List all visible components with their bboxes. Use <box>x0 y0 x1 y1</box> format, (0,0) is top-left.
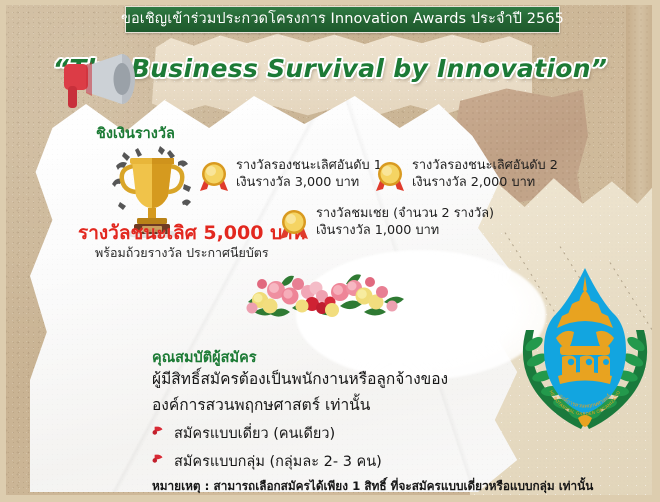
medal-icon <box>374 159 406 193</box>
prize-item-title: รางวัลชมเชย (จำนวน 2 รางวัล) <box>316 205 494 222</box>
prize-item-amount: เงินรางวัล 2,000 บาท <box>412 174 558 192</box>
qualifications-line-2: องค์การสวนพฤกษศาสตร์ เท่านั้น <box>152 392 370 417</box>
botanical-garden-organization-logo: องค์การสวนพฤกษศาสตร์ THE BOTANICAL GARDE… <box>522 258 648 430</box>
megaphone-icon <box>52 44 148 114</box>
list-item: สมัครแบบกลุ่ม (กลุ่มละ 2- 3 คน) <box>152 450 382 473</box>
prize-item-title: รางวัลรองชนะเลิศอันดับ 2 <box>412 157 558 174</box>
list-item-label: สมัครแบบเดี่ยว (คนเดียว) <box>174 422 335 445</box>
banner-title: ขอเชิญเข้าร่วมประกวดโครงการ Innovation A… <box>121 12 564 27</box>
prize-item-text: รางวัลรองชนะเลิศอันดับ 2 เงินรางวัล 2,00… <box>412 157 558 192</box>
bullet-flag-icon <box>152 452 166 471</box>
first-prize-extras: พร้อมถ้วยรางวัล ประกาศนียบัตร <box>95 243 269 263</box>
medal-icon <box>278 207 310 241</box>
list-item: สมัครแบบเดี่ยว (คนเดียว) <box>152 422 335 445</box>
frame-border-bottom <box>0 495 660 502</box>
floral-garland-decoration <box>240 262 410 326</box>
bullet-flag-icon <box>152 424 166 443</box>
qualifications-line-1: ผู้มีสิทธิ์สมัครต้องเป็นพนักงานหรือลูกจ้… <box>152 366 448 391</box>
prize-item-title: รางวัลรองชนะเลิศอันดับ 1 <box>236 157 382 174</box>
prize-item-text: รางวัลชมเชย (จำนวน 2 รางวัล) เงินรางวัล … <box>316 205 494 240</box>
prize-item-amount: เงินรางวัล 3,000 บาท <box>236 174 382 192</box>
poster-root: ขอเชิญเข้าร่วมประกวดโครงการ Innovation A… <box>0 0 660 502</box>
list-item-label: สมัครแบบกลุ่ม (กลุ่มละ 2- 3 คน) <box>174 450 382 473</box>
header-banner: ขอเชิญเข้าร่วมประกวดโครงการ Innovation A… <box>125 6 560 33</box>
prize-item-amount: เงินรางวัล 1,000 บาท <box>316 222 494 240</box>
footnote: หมายเหตุ : สามารถเลือกสมัครได้เพียง 1 สิ… <box>152 477 593 496</box>
prize-item-text: รางวัลรองชนะเลิศอันดับ 1 เงินรางวัล 3,00… <box>236 157 382 192</box>
medal-icon <box>198 159 230 193</box>
